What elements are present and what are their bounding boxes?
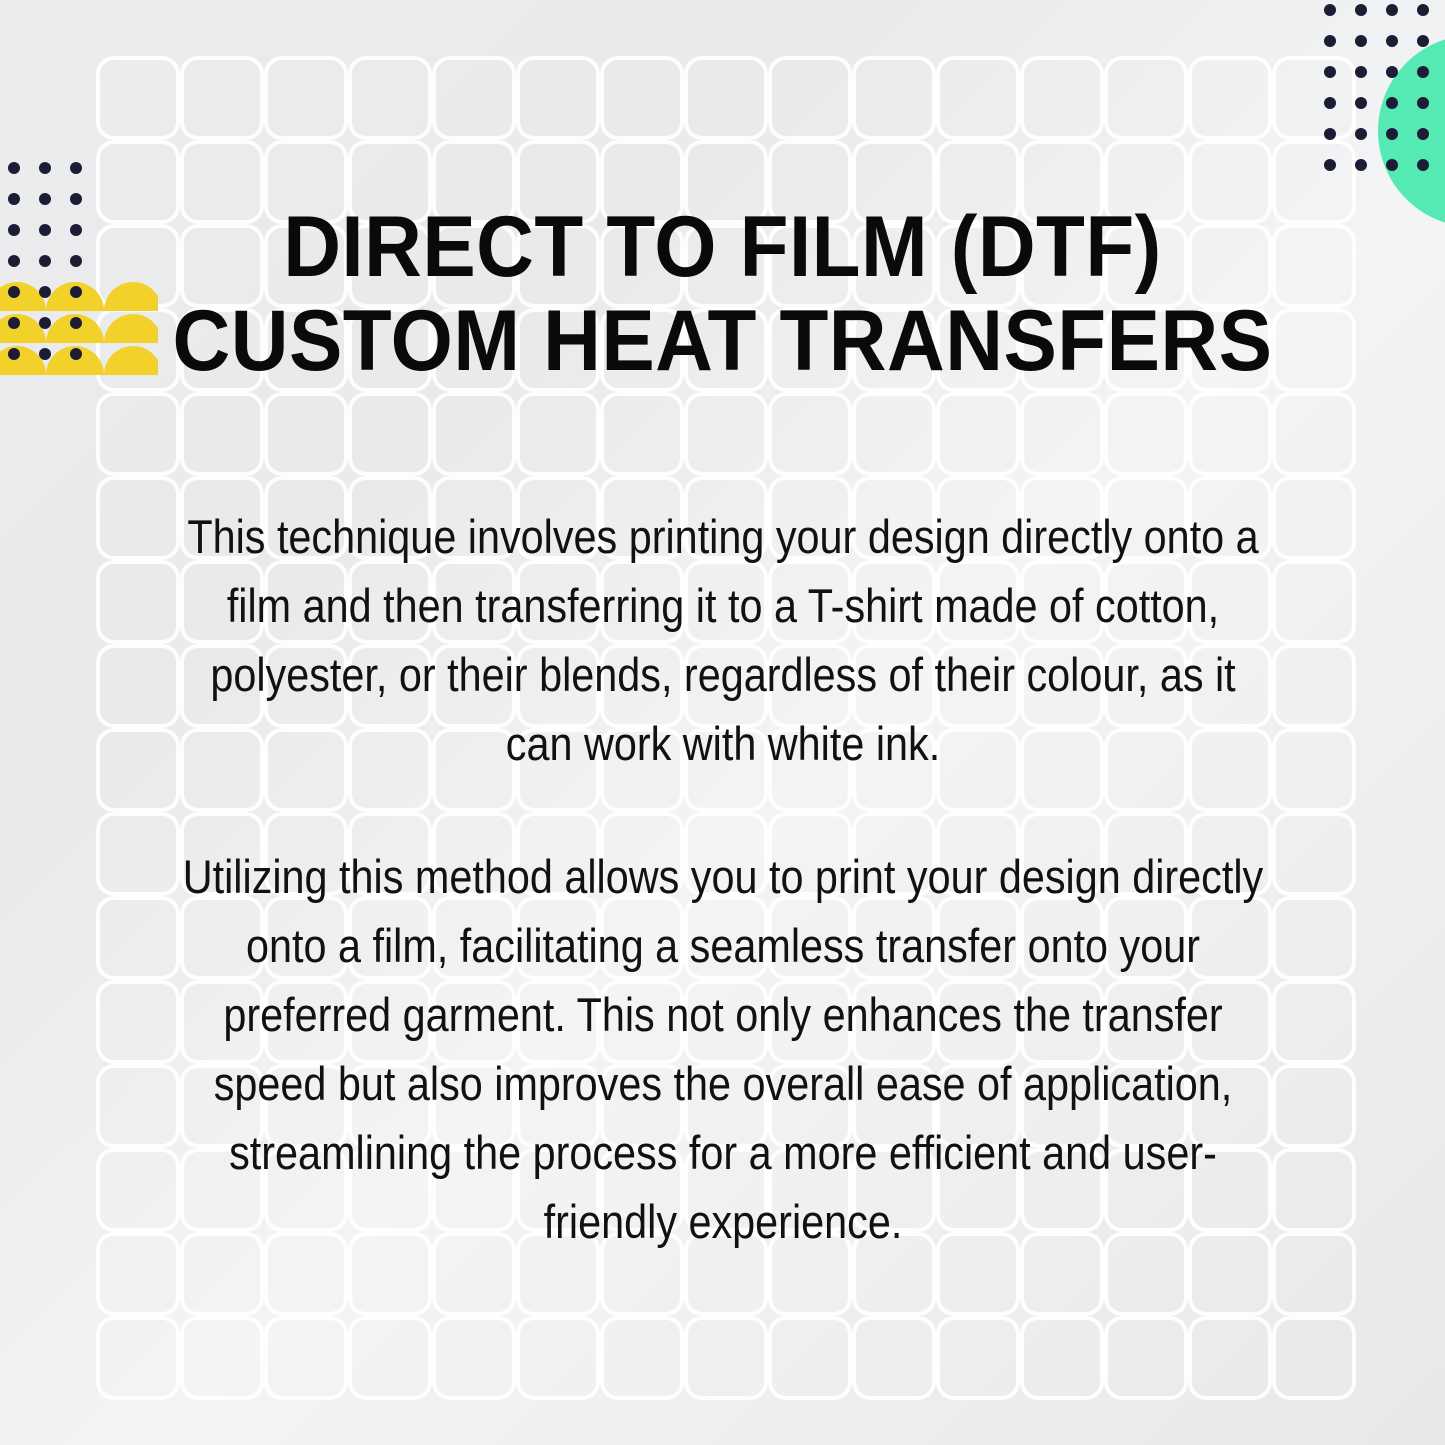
body-paragraph-2: Utilizing this method allows you to prin… xyxy=(173,842,1273,1256)
poster-content: DIRECT TO FILM (DTF) CUSTOM HEAT TRANSFE… xyxy=(0,0,1445,1445)
title-line-2: CUSTOM HEAT TRANSFERS xyxy=(144,294,1302,388)
body-paragraph-1: This technique involves printing your de… xyxy=(173,502,1273,778)
page-title: DIRECT TO FILM (DTF) CUSTOM HEAT TRANSFE… xyxy=(144,200,1302,388)
poster-canvas: DIRECT TO FILM (DTF) CUSTOM HEAT TRANSFE… xyxy=(0,0,1445,1445)
title-line-1: DIRECT TO FILM (DTF) xyxy=(144,200,1302,294)
